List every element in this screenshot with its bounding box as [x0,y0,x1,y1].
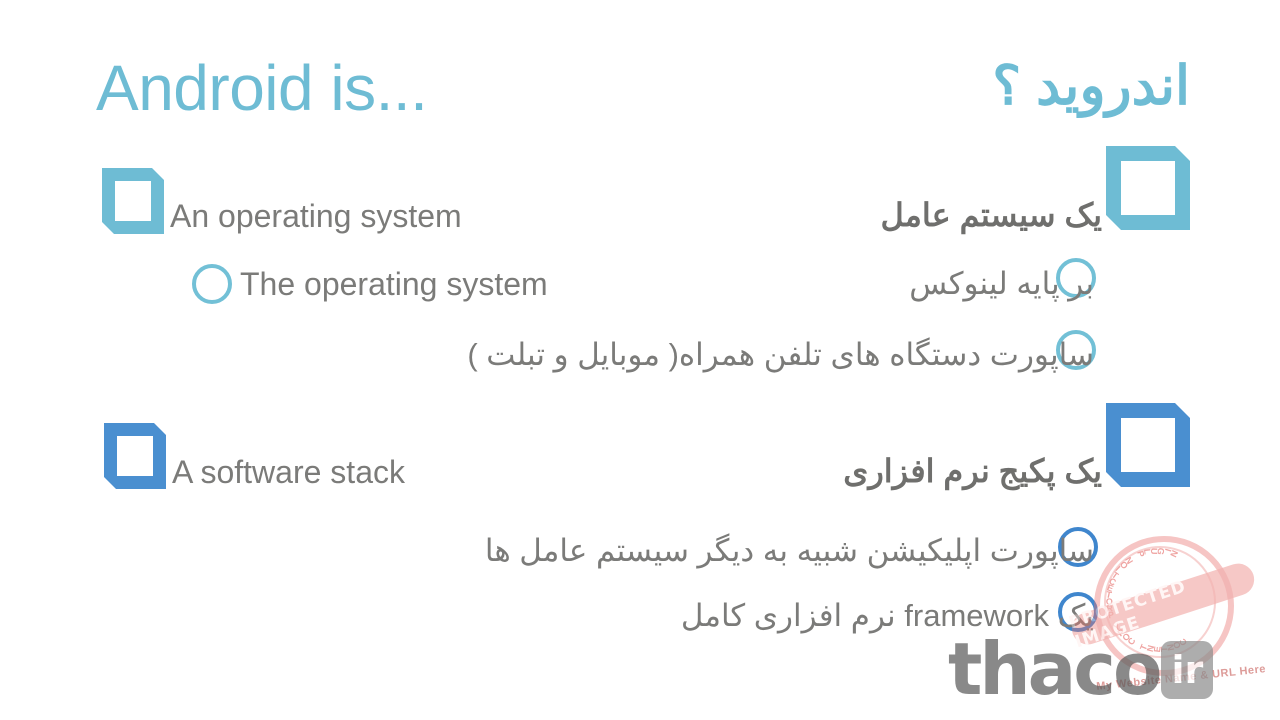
bullet-label-group2-persian: یک پکیج نرم افزاری [843,452,1102,490]
square-bullet-icon-group1-left [102,168,164,234]
watermark-logo-tld-badge: ir [1161,641,1213,699]
bullet-label-group1-persian: یک سیستم عامل [880,196,1102,234]
circle-bullet-icon-group1-sub1-left [192,264,232,304]
page-title-english: Android is... [96,56,427,120]
bullet-label-group2-english: A software stack [172,454,405,491]
watermark-logo-word: thaco [948,640,1159,699]
sub-bullet-label-group1-sub1-english: The operating system [240,266,548,303]
page-title-persian: اندروید ؟ [992,58,1190,115]
sub-bullet-label-group1-sub1-persian: بر پایه لینوکس [909,266,1094,302]
bullet-label-group1-english: An operating system [170,198,462,235]
watermark-logo: thaco ir [948,640,1213,699]
square-bullet-icon-group1-right [1106,146,1190,230]
sub-bullet-label-group1-sub2-persian: ساپورت دستگاه های تلفن همراه( موبایل و ت… [467,337,1094,373]
square-bullet-icon-group2-right [1106,403,1190,487]
sub-bullet-label-group2-sub1-persian: ساپورت اپلیکیشن شبیه به دیگر سیستم عامل … [485,533,1094,569]
slide-canvas: Android is... اندروید ؟ An operating sys… [0,0,1280,720]
square-bullet-icon-group2-left [104,423,166,489]
